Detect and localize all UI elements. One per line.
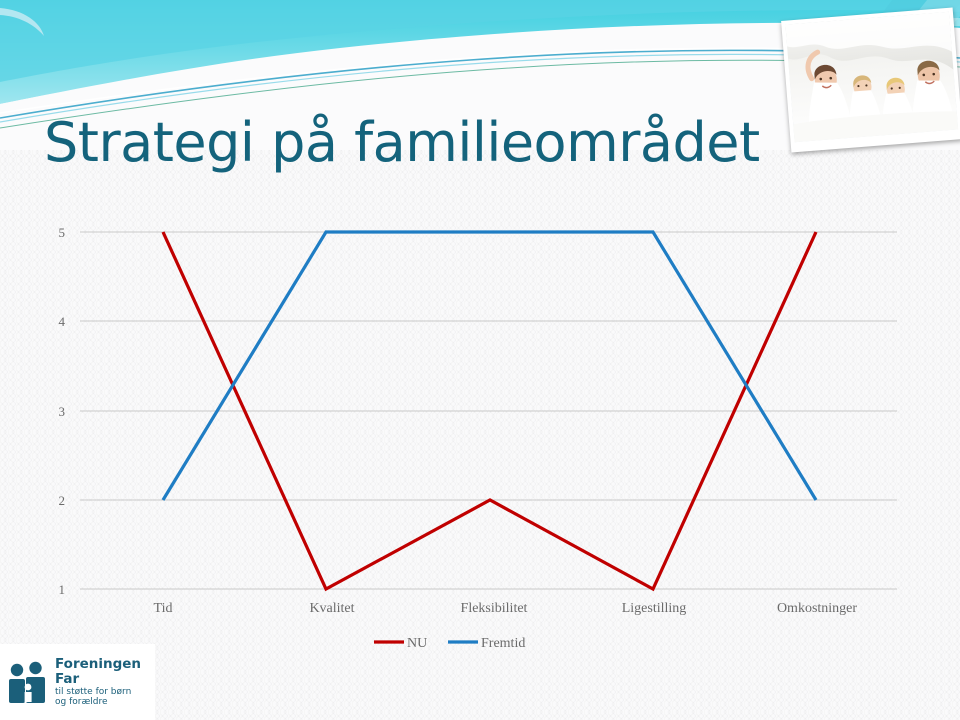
chart-y-axis-labels: 5 4 3 2 1: [59, 225, 66, 597]
family-photo-image: [785, 12, 958, 143]
y-tick-1: 1: [59, 582, 66, 597]
legend-item-nu[interactable]: NU: [374, 636, 427, 651]
chart-legend: NU Fremtid: [374, 636, 525, 651]
family-photo: [781, 7, 960, 152]
y-tick-2: 2: [59, 493, 66, 508]
chart-svg: 5 4 3 2 1 Tid Kvalitet Fleksibilitet Lig…: [0, 200, 960, 670]
y-tick-4: 4: [59, 314, 66, 329]
slide-canvas: Strategi på familieområdet: [0, 0, 960, 720]
x-tick-tid: Tid: [154, 601, 173, 616]
legend-label-fremtid: Fremtid: [481, 636, 525, 651]
two-figures-icon: [8, 659, 48, 705]
line-chart: 5 4 3 2 1 Tid Kvalitet Fleksibilitet Lig…: [0, 200, 960, 670]
logo-name: Foreningen Far: [55, 657, 155, 687]
series-line-fremtid: [163, 232, 816, 500]
y-tick-5: 5: [59, 225, 66, 240]
y-tick-3: 3: [59, 404, 66, 419]
logo-tagline-line1: til støtte for børn: [55, 687, 155, 697]
chart-x-axis-labels: Tid Kvalitet Fleksibilitet Ligestilling …: [154, 601, 858, 616]
x-tick-fleksibilitet: Fleksibilitet: [461, 601, 528, 616]
chart-gridlines: [80, 232, 897, 589]
organization-logo: Foreningen Far til støtte for børn og fo…: [0, 644, 155, 720]
legend-item-fremtid[interactable]: Fremtid: [448, 636, 525, 651]
slide-title: Strategi på familieområdet: [44, 114, 804, 172]
legend-label-nu: NU: [407, 636, 427, 651]
logo-tagline-line2: og forældre: [55, 697, 155, 707]
x-tick-ligestilling: Ligestilling: [622, 601, 687, 616]
x-tick-omkostninger: Omkostninger: [777, 601, 857, 616]
x-tick-kvalitet: Kvalitet: [309, 601, 354, 616]
